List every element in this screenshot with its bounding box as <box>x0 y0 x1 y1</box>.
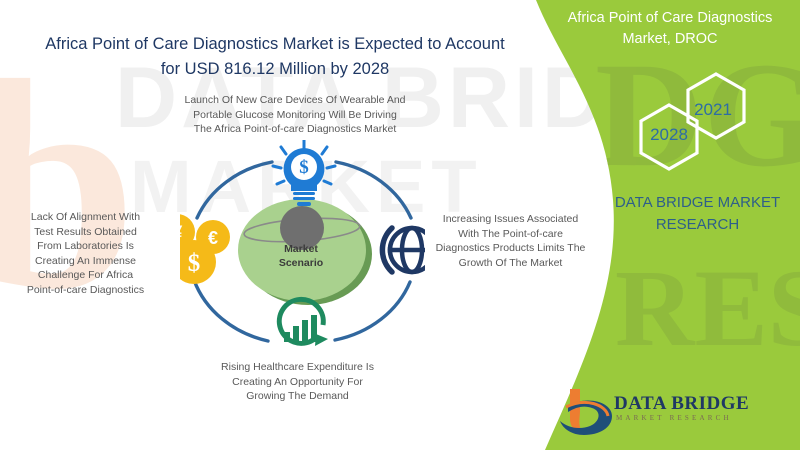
bar-chart-refresh-icon <box>279 299 328 346</box>
hexagon-2021-label: 2021 <box>687 100 739 120</box>
green-panel-title: Africa Point of Care Diagnostics Market,… <box>545 8 795 50</box>
globe-icon <box>382 228 425 272</box>
hexagon-2028-label: 2028 <box>643 125 695 145</box>
svg-text:$: $ <box>188 250 201 277</box>
callout-restraint-right: Increasing Issues Associated With The Po… <box>428 212 593 270</box>
logo-tagline: MARKET RESEARCH <box>616 414 732 422</box>
callout-driver-top: Launch Of New Care Devices Of Wearable A… <box>160 93 430 137</box>
callout-challenge-left: Lack Of Alignment With Test Results Obta… <box>8 210 163 297</box>
coins-currency-icon: ¥ € $ <box>180 214 230 284</box>
callout-opportunity-bottom: Rising Healthcare Expenditure Is Creatin… <box>205 360 390 404</box>
svg-text:€: € <box>208 228 218 248</box>
slide-canvas: b DATA BRID MARKET DGE RESEA Africa Poin… <box>0 0 800 450</box>
center-label: Market Scenario <box>249 243 353 270</box>
watermark-green-line2: RESEA <box>615 247 800 369</box>
logo-title: DATA BRIDGE <box>614 393 749 415</box>
page-title: Africa Point of Care Diagnostics Market … <box>40 32 510 82</box>
svg-text:$: $ <box>299 157 309 178</box>
green-panel-brand: DATA BRIDGE MARKET RESEARCH <box>600 192 795 236</box>
lightbulb-dollar-icon: $ <box>273 140 335 206</box>
